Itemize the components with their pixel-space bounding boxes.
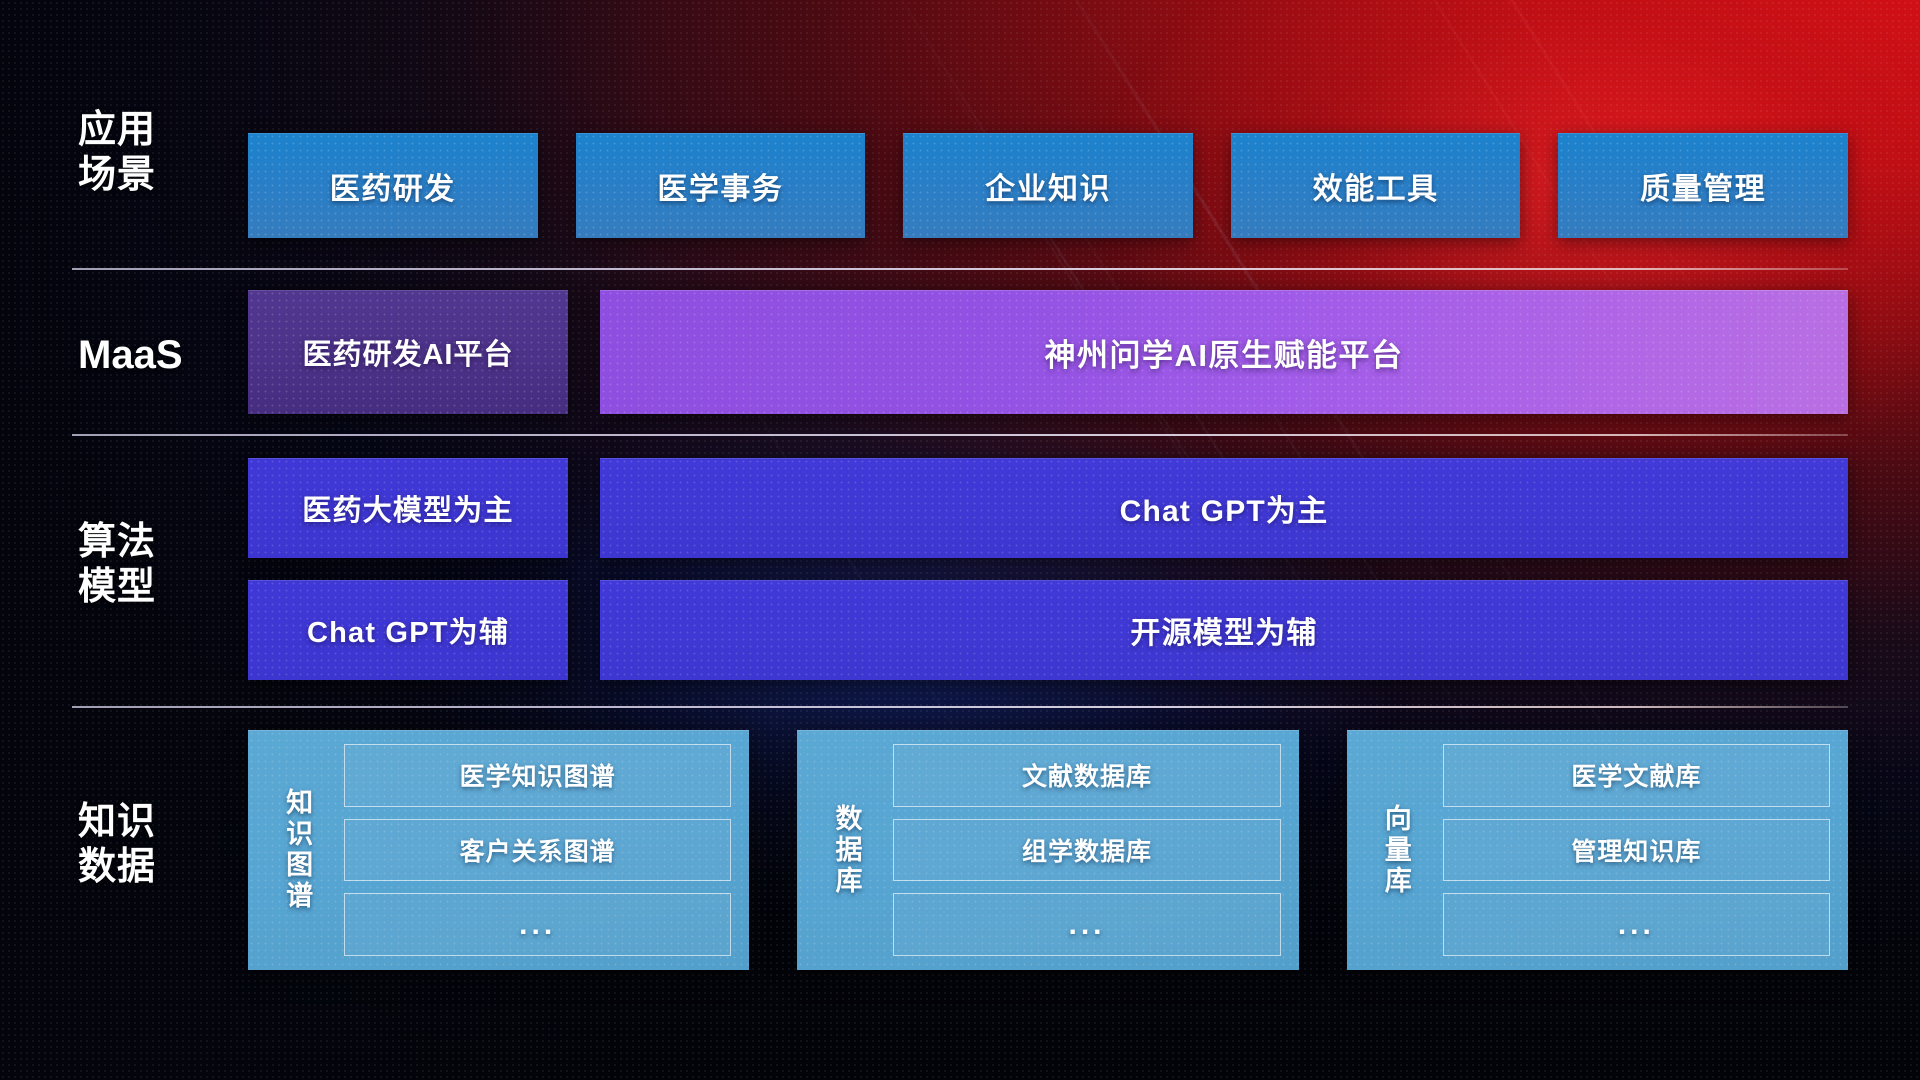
divider-application-maas [72, 268, 1848, 270]
app-card-medical-affairs[interactable]: 医学事务 [576, 133, 866, 238]
maas-card-label: 医药研发AI平台 [302, 331, 513, 373]
maas-row: 医药研发AI平台 神州问学AI原生赋能平台 [248, 290, 1848, 414]
maas-card-drug-rd-ai-platform[interactable]: 医药研发AI平台 [248, 290, 568, 414]
row-label-maas: MaaS [78, 332, 228, 379]
row-label-application-scenarios: 应用 场景 [78, 108, 228, 198]
row-label-application-line2: 场景 [78, 153, 228, 198]
knowledge-panel-database[interactable]: 数据库 文献数据库 组学数据库 ... [797, 730, 1298, 970]
knowledge-panel-items: 文献数据库 组学数据库 ... [893, 744, 1280, 956]
algorithm-model-line-secondary: Chat GPT为辅 开源模型为辅 [248, 580, 1848, 680]
knowledge-item[interactable]: 管理知识库 [1443, 819, 1830, 882]
knowledge-item[interactable]: 医学知识图谱 [344, 744, 731, 807]
row-label-knowledge-line2: 数据 [78, 845, 228, 890]
app-card-drug-rd[interactable]: 医药研发 [248, 133, 538, 238]
algorithm-model-line-primary: 医药大模型为主 Chat GPT为主 [248, 458, 1848, 558]
knowledge-panel-knowledge-graph[interactable]: 知识图谱 医学知识图谱 客户关系图谱 ... [248, 730, 749, 970]
app-card-label: 企业知识 [985, 164, 1111, 208]
knowledge-panel-label: 向量库 [1363, 744, 1429, 956]
knowledge-item[interactable]: 医学文献库 [1443, 744, 1830, 807]
knowledge-item-more[interactable]: ... [344, 893, 731, 956]
knowledge-panel-vector-store[interactable]: 向量库 医学文献库 管理知识库 ... [1347, 730, 1848, 970]
app-card-efficiency-tools[interactable]: 效能工具 [1231, 133, 1521, 238]
knowledge-item-more[interactable]: ... [1443, 893, 1830, 956]
row-label-algorithm-line1: 算法 [78, 520, 228, 565]
algo-card-label: 开源模型为辅 [1130, 608, 1317, 652]
algorithm-model-row: 医药大模型为主 Chat GPT为主 Chat GPT为辅 开源模型为辅 [248, 458, 1848, 680]
maas-card-label: 神州问学AI原生赋能平台 [1045, 330, 1404, 375]
divider-maas-algorithm [72, 434, 1848, 436]
knowledge-panel-items: 医学文献库 管理知识库 ... [1443, 744, 1830, 956]
maas-card-shenzhou-wenxue-platform[interactable]: 神州问学AI原生赋能平台 [600, 290, 1848, 414]
algo-card-chatgpt-primary[interactable]: Chat GPT为主 [600, 458, 1848, 558]
knowledge-panel-items: 医学知识图谱 客户关系图谱 ... [344, 744, 731, 956]
knowledge-panel-label: 数据库 [813, 744, 879, 956]
row-label-algorithm-model: 算法 模型 [78, 520, 228, 610]
row-label-maas-text: MaaS [78, 332, 228, 379]
app-card-quality-management[interactable]: 质量管理 [1558, 133, 1848, 238]
app-card-label: 效能工具 [1313, 164, 1439, 208]
knowledge-item[interactable]: 组学数据库 [893, 819, 1280, 882]
knowledge-item-more[interactable]: ... [893, 893, 1280, 956]
application-scenarios-row: 医药研发 医学事务 企业知识 效能工具 质量管理 [248, 133, 1848, 238]
knowledge-item[interactable]: 客户关系图谱 [344, 819, 731, 882]
row-label-algorithm-line2: 模型 [78, 565, 228, 610]
row-label-knowledge-data: 知识 数据 [78, 800, 228, 890]
architecture-diagram: 应用 场景 医药研发 医学事务 企业知识 效能工具 质量管理 MaaS 医药研发… [0, 0, 1920, 1080]
row-label-application-line1: 应用 [78, 108, 228, 153]
knowledge-data-row: 知识图谱 医学知识图谱 客户关系图谱 ... 数据库 文献数据库 组学数据库 .… [248, 730, 1848, 970]
algo-card-chatgpt-secondary[interactable]: Chat GPT为辅 [248, 580, 568, 680]
algo-card-label: Chat GPT为主 [1120, 486, 1329, 530]
app-card-label: 医药研发 [330, 164, 456, 208]
app-card-label: 医学事务 [657, 164, 783, 208]
app-card-label: 质量管理 [1640, 164, 1766, 208]
knowledge-panel-label: 知识图谱 [264, 744, 330, 956]
algo-card-label: Chat GPT为辅 [307, 609, 509, 651]
algo-card-opensource-model-secondary[interactable]: 开源模型为辅 [600, 580, 1848, 680]
app-card-enterprise-knowledge[interactable]: 企业知识 [903, 133, 1193, 238]
algo-card-pharma-large-model-primary[interactable]: 医药大模型为主 [248, 458, 568, 558]
algo-card-label: 医药大模型为主 [302, 487, 513, 529]
knowledge-item[interactable]: 文献数据库 [893, 744, 1280, 807]
divider-algorithm-knowledge [72, 706, 1848, 708]
row-label-knowledge-line1: 知识 [78, 800, 228, 845]
